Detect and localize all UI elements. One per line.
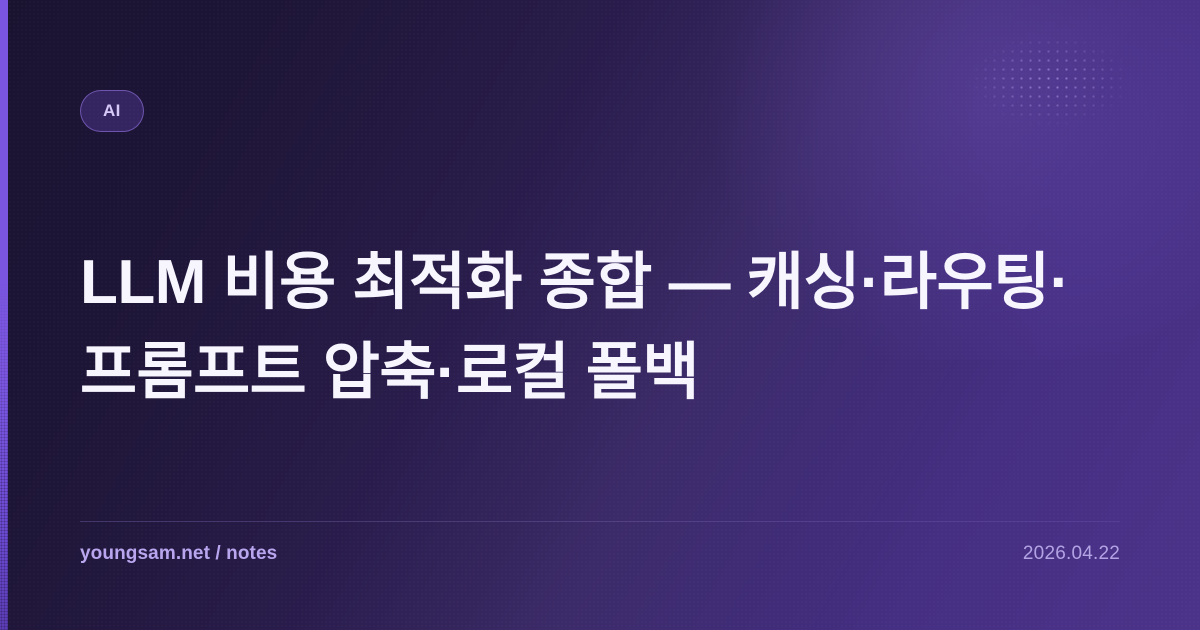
- page-title: LLM 비용 최적화 종합 — 캐싱·라우팅·프롬프트 압축·로컬 폴백: [80, 238, 1110, 418]
- social-card: AI LLM 비용 최적화 종합 — 캐싱·라우팅·프롬프트 압축·로컬 폴백 …: [0, 0, 1200, 630]
- footer-site-label: youngsam.net / notes: [80, 543, 277, 565]
- footer-divider: [80, 521, 1120, 522]
- footer-date-label: 2026.04.22: [1023, 543, 1120, 565]
- footer: youngsam.net / notes 2026.04.22: [80, 543, 1120, 565]
- category-badge: AI: [80, 90, 144, 132]
- card-content: AI LLM 비용 최적화 종합 — 캐싱·라우팅·프롬프트 압축·로컬 폴백 …: [0, 0, 1200, 630]
- category-badge-label: AI: [103, 101, 121, 121]
